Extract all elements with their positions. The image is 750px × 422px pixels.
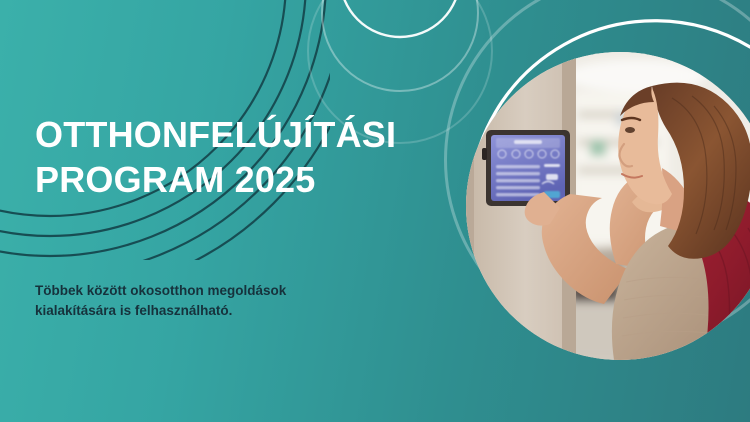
hero-photo-illustration — [466, 52, 750, 360]
banner-subtitle: Többek között okosotthon megoldások kial… — [35, 281, 365, 321]
hero-photo — [466, 52, 750, 360]
banner-text-block: OTTHONFELÚJÍTÁSI PROGRAM 2025 — [35, 112, 435, 202]
page-title: OTTHONFELÚJÍTÁSI PROGRAM 2025 — [35, 112, 435, 202]
promo-banner: OTTHONFELÚJÍTÁSI PROGRAM 2025 Többek köz… — [0, 0, 750, 422]
